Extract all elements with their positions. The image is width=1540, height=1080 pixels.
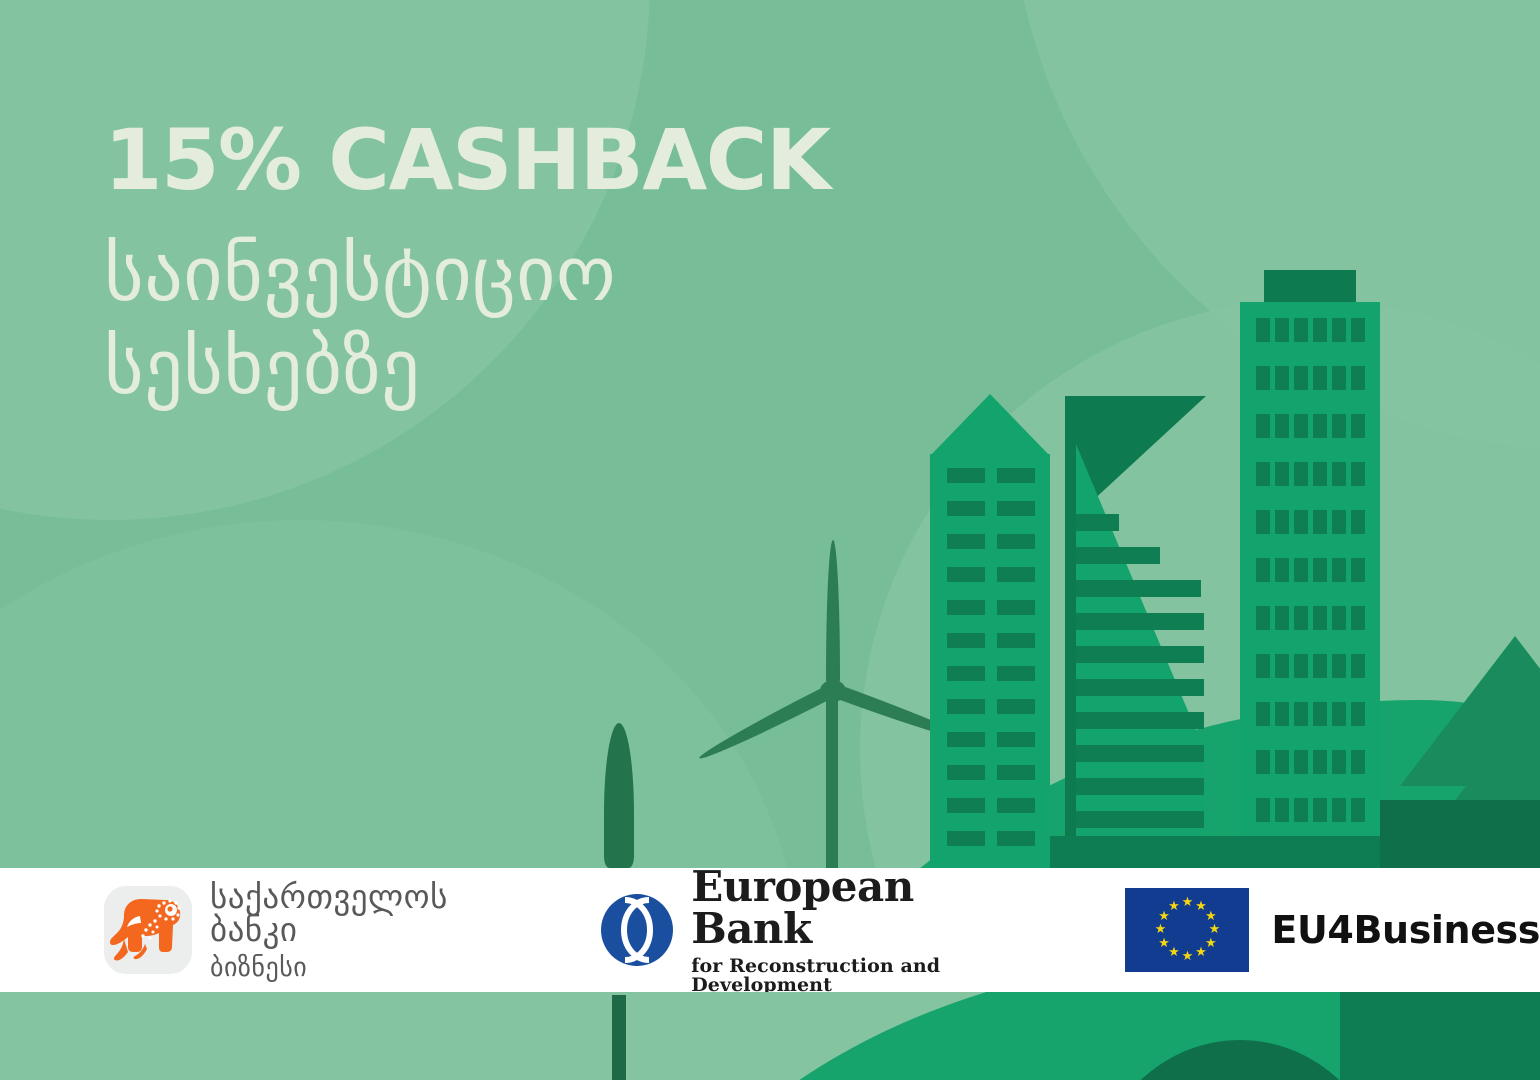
building-window <box>1256 318 1270 342</box>
building-band <box>1076 745 1204 762</box>
turbine-blade <box>696 684 836 765</box>
building-window <box>1332 798 1346 822</box>
building-window <box>1294 654 1308 678</box>
building-window <box>1256 366 1270 390</box>
building-window <box>1332 318 1346 342</box>
building-window <box>997 501 1035 516</box>
building-window <box>1256 558 1270 582</box>
building-body <box>1240 302 1380 868</box>
eu-flag-star: ★ <box>1154 924 1166 936</box>
eu-flag-icon: ★★★★★★★★★★★★ <box>1125 888 1249 972</box>
cypress-trunk <box>612 995 626 1080</box>
building-window <box>1294 366 1308 390</box>
building-window <box>1351 414 1365 438</box>
eu-flag-star: ★ <box>1208 924 1220 936</box>
building-window <box>1256 702 1270 726</box>
building-window <box>997 732 1035 747</box>
building-window <box>1332 414 1346 438</box>
building-window <box>997 600 1035 615</box>
building-window <box>947 468 985 483</box>
partner-logo-bar: საქართველოს ბანკი ბიზნესი European Bank … <box>0 868 1540 992</box>
building-window <box>1351 750 1365 774</box>
building-window <box>947 798 985 813</box>
eu4business-name: EU4Business <box>1271 908 1540 952</box>
building-band <box>1076 613 1204 630</box>
foreground-ground-dark <box>1380 800 1540 868</box>
building-window <box>1332 510 1346 534</box>
bank-of-georgia-name: საქართველოს ბანკი <box>210 880 497 946</box>
building-window <box>1351 702 1365 726</box>
eu-flag-star: ★ <box>1168 901 1180 913</box>
building-window <box>1313 702 1327 726</box>
building-window <box>1294 462 1308 486</box>
headline-line-2: საინვესტიციო <box>104 228 1064 321</box>
building-window <box>997 633 1035 648</box>
building-window <box>1351 510 1365 534</box>
building-tall-tower <box>1240 270 1380 868</box>
building-window <box>1256 414 1270 438</box>
building-window <box>1275 414 1289 438</box>
eu-flag-star: ★ <box>1195 947 1207 959</box>
building-window <box>1294 558 1308 582</box>
building-window <box>1294 318 1308 342</box>
building-window <box>997 765 1035 780</box>
turbine-mast <box>826 688 838 868</box>
building-window <box>997 798 1035 813</box>
building-window <box>1351 318 1365 342</box>
building-window <box>947 831 985 846</box>
building-band <box>1076 778 1204 795</box>
building-band <box>1076 679 1204 696</box>
turbine-blade <box>826 540 840 690</box>
building-window <box>997 831 1035 846</box>
building-window <box>997 699 1035 714</box>
offer-headline: 15% CASHBACK <box>104 118 1064 202</box>
ebrd-logo-icon <box>599 892 675 968</box>
building-window <box>1313 414 1327 438</box>
building-window <box>1275 654 1289 678</box>
partner-eu4business[interactable]: ★★★★★★★★★★★★ EU4Business <box>1033 868 1540 992</box>
bank-of-georgia-lion-icon <box>104 886 192 974</box>
building-window <box>997 468 1035 483</box>
building-window <box>1313 654 1327 678</box>
building-window <box>1332 654 1346 678</box>
bottom-hill-dark <box>1340 992 1540 1080</box>
building-pointed-roof <box>930 394 1050 868</box>
building-band <box>1076 514 1119 531</box>
eu-flag-star: ★ <box>1181 951 1193 963</box>
building-band <box>1076 547 1160 564</box>
partner-ebrd[interactable]: European Bank for Reconstruction and Dev… <box>497 868 1033 992</box>
building-window <box>1313 750 1327 774</box>
building-window <box>1332 606 1346 630</box>
building-window <box>947 666 985 681</box>
building-window <box>1351 462 1365 486</box>
building-window <box>1294 606 1308 630</box>
building-window <box>1294 414 1308 438</box>
building-window <box>1351 798 1365 822</box>
building-window <box>1313 606 1327 630</box>
building-band <box>1076 580 1201 597</box>
bottom-green-band <box>0 992 1540 1080</box>
eu-flag-star: ★ <box>1181 897 1193 909</box>
cypress-tree-icon <box>604 723 634 868</box>
building-window <box>1351 654 1365 678</box>
building-edge <box>1065 396 1076 868</box>
building-window <box>1313 558 1327 582</box>
building-window <box>1351 366 1365 390</box>
eu-flag-star: ★ <box>1158 938 1170 950</box>
partner-bank-of-georgia[interactable]: საქართველოს ბანკი ბიზნესი <box>0 868 497 992</box>
building-window <box>947 732 985 747</box>
building-window <box>1294 798 1308 822</box>
building-window <box>1275 366 1289 390</box>
building-window <box>1332 750 1346 774</box>
building-window <box>1275 510 1289 534</box>
building-window <box>1256 750 1270 774</box>
headline-line-3: სესხებზე <box>104 321 1064 414</box>
eu-flag-star: ★ <box>1205 911 1217 923</box>
building-window <box>1256 510 1270 534</box>
wind-turbine-icon <box>760 520 950 868</box>
building-window <box>1275 318 1289 342</box>
bank-of-georgia-subtitle: ბიზნესი <box>210 955 497 981</box>
building-window <box>947 567 985 582</box>
building-band <box>1076 811 1204 828</box>
building-window <box>1351 558 1365 582</box>
turbine-hub <box>820 680 846 702</box>
building-window <box>1332 462 1346 486</box>
building-window <box>1332 366 1346 390</box>
building-window <box>1275 798 1289 822</box>
building-window <box>1275 702 1289 726</box>
building-window <box>1256 798 1270 822</box>
building-window <box>947 600 985 615</box>
ebrd-name: European Bank <box>691 866 1033 950</box>
headline-block: 15% CASHBACK საინვესტიციო სესხებზე <box>104 118 1064 413</box>
building-window <box>1294 702 1308 726</box>
building-window <box>1256 462 1270 486</box>
building-window <box>1351 606 1365 630</box>
building-window <box>947 501 985 516</box>
building-window <box>1275 750 1289 774</box>
building-angled-top <box>1065 396 1225 868</box>
building-window <box>1256 606 1270 630</box>
building-band <box>1076 712 1204 729</box>
building-body <box>930 454 1050 868</box>
building-window <box>1332 702 1346 726</box>
building-window <box>1294 510 1308 534</box>
building-roof-cap <box>1264 270 1356 302</box>
building-window <box>1313 318 1327 342</box>
building-window <box>1256 654 1270 678</box>
building-window <box>947 534 985 549</box>
building-window <box>1313 798 1327 822</box>
building-window <box>1275 462 1289 486</box>
building-window <box>1294 750 1308 774</box>
building-window <box>947 699 985 714</box>
building-window <box>1275 606 1289 630</box>
building-band <box>1076 646 1204 663</box>
building-window <box>997 567 1035 582</box>
building-window <box>1313 462 1327 486</box>
building-window <box>947 633 985 648</box>
building-window <box>997 666 1035 681</box>
promo-banner: 15% CASHBACK საინვესტიციო სესხებზე <box>0 0 1540 1080</box>
building-window <box>1275 558 1289 582</box>
building-window <box>1313 366 1327 390</box>
building-window <box>997 534 1035 549</box>
building-window <box>1332 558 1346 582</box>
building-window <box>947 765 985 780</box>
building-window <box>1313 510 1327 534</box>
ebrd-subtitle: for Reconstruction and Development <box>691 957 1033 995</box>
